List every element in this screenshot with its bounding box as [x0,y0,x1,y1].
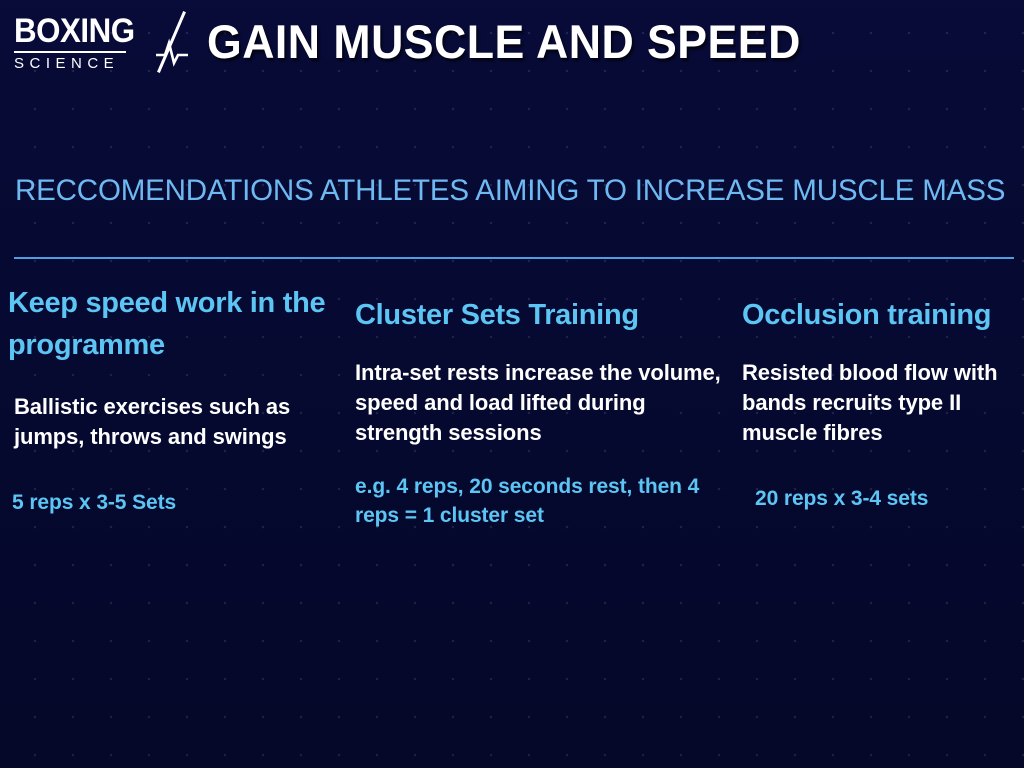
page-subtitle: RECCOMENDATIONS ATHLETES AIMING TO INCRE… [15,173,1024,209]
column-body-text: Resisted blood flow with bands recruits … [742,358,1010,448]
logo-boxing-text: BOXING [14,14,135,48]
page-title: GAIN MUSCLE AND SPEED [207,17,801,67]
column-heading: Keep speed work in the programme [8,282,338,366]
column-prescription-note: 5 reps x 3-5 Sets [12,488,338,517]
ecg-heartbeat-icon [143,11,189,78]
logo-divider-rule [14,51,126,53]
header-divider [14,257,1014,259]
column-heading: Cluster Sets Training [355,294,727,336]
logo-science-text: SCIENCE [14,56,145,71]
logo-wordmark: BOXING SCIENCE [14,14,145,71]
column-prescription-note: 20 reps x 3-4 sets [755,484,1010,513]
column-prescription-note: e.g. 4 reps, 20 seconds rest, then 4 rep… [355,472,727,530]
column-body-text: Intra-set rests increase the volume, spe… [355,358,727,448]
recommendation-column-2: Cluster Sets Training Intra-set rests in… [355,280,727,530]
column-heading: Occlusion training [742,294,1010,336]
column-body-text: Ballistic exercises such as jumps, throw… [14,392,338,452]
recommendation-column-3: Occlusion training Resisted blood flow w… [742,280,1010,513]
boxing-science-logo: BOXING SCIENCE [14,7,189,78]
recommendation-column-1: Keep speed work in the programme Ballist… [8,280,338,517]
header-bar: BOXING SCIENCE GAIN MUSCLE AND SPEED [0,0,1024,84]
slide-root: BOXING SCIENCE GAIN MUSCLE AND SPEED REC… [0,0,1024,768]
recommendations-columns: Keep speed work in the programme Ballist… [0,280,1024,570]
